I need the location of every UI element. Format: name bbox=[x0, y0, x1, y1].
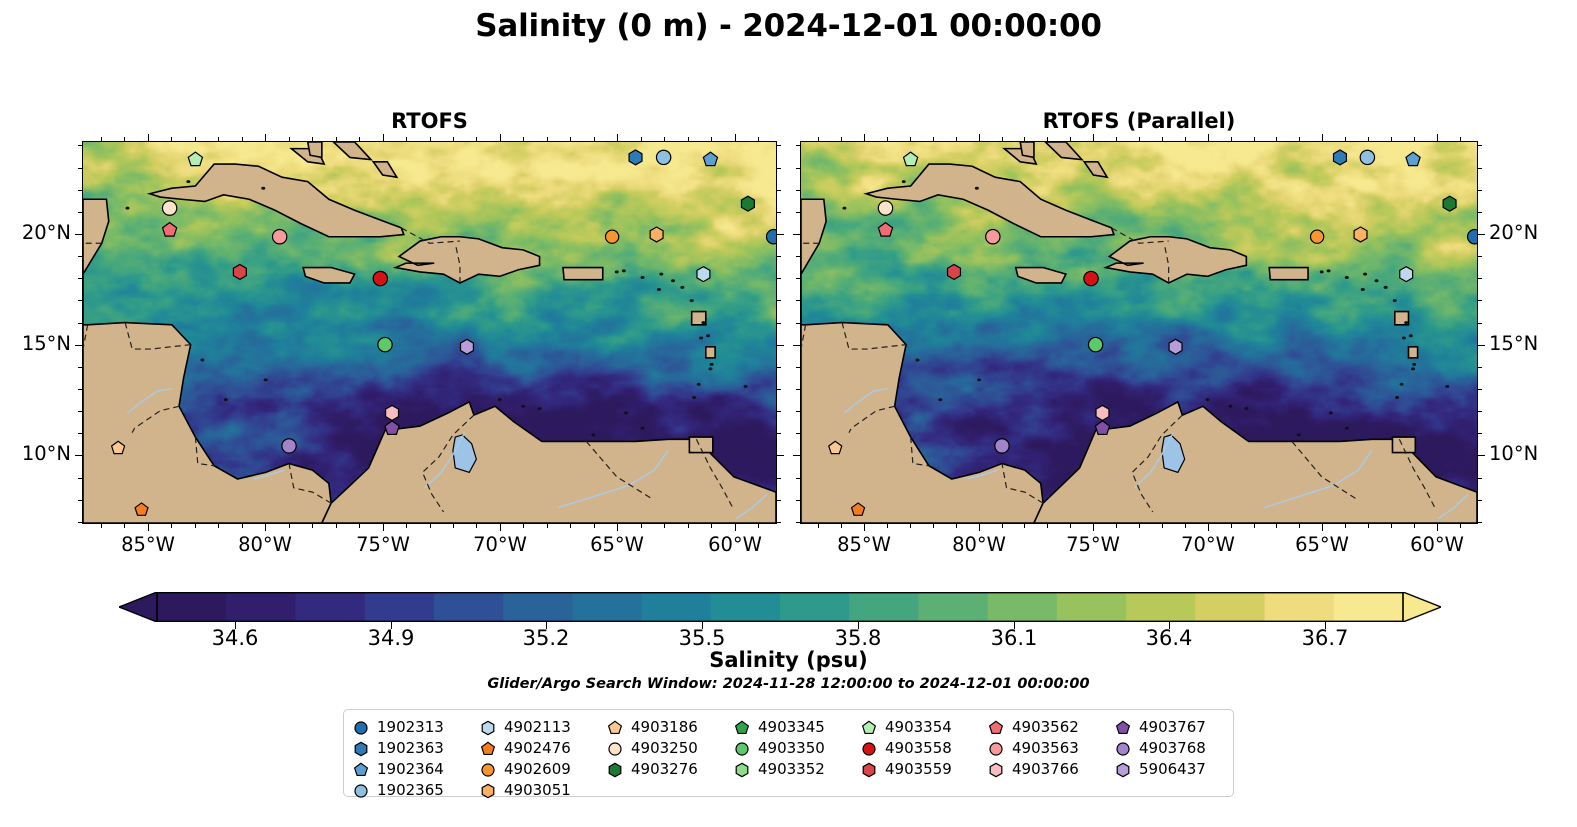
islet bbox=[1445, 385, 1449, 388]
x-minor-tick bbox=[933, 137, 934, 141]
x-minor-tick bbox=[887, 524, 888, 528]
x-minor-tick bbox=[1116, 137, 1117, 141]
y-minor-tick bbox=[1478, 433, 1482, 434]
x-tick bbox=[1093, 134, 1094, 141]
islet bbox=[706, 334, 710, 337]
y-tick-label: 15°N bbox=[1489, 332, 1577, 355]
legend-marker-circle bbox=[352, 782, 370, 800]
legend-label: 4903051 bbox=[504, 783, 571, 798]
x-minor-tick bbox=[406, 524, 407, 528]
x-minor-tick bbox=[453, 524, 454, 528]
colorbar-segment bbox=[295, 592, 365, 622]
x-minor-tick bbox=[1047, 524, 1048, 528]
legend-item-5906437[interactable]: 5906437 bbox=[1114, 759, 1241, 780]
legend-item-4903350[interactable]: 4903350 bbox=[733, 738, 860, 759]
y-minor-tick bbox=[78, 212, 82, 213]
x-minor-tick bbox=[336, 524, 337, 528]
colorbar bbox=[119, 592, 1441, 622]
float-marker-4903276[interactable] bbox=[1443, 196, 1456, 211]
x-tick bbox=[1437, 524, 1438, 531]
float-marker-4903350[interactable] bbox=[378, 337, 392, 351]
y-tick bbox=[777, 455, 784, 456]
legend-item-4903186[interactable]: 4903186 bbox=[606, 717, 733, 738]
y-minor-tick bbox=[796, 433, 800, 434]
islet bbox=[1329, 411, 1333, 414]
colorbar-tick-label: 34.9 bbox=[331, 626, 451, 650]
y-tick bbox=[793, 234, 800, 235]
islet bbox=[1411, 367, 1415, 370]
float-marker-4902113[interactable] bbox=[697, 267, 710, 282]
float-marker-4903559[interactable] bbox=[233, 264, 246, 279]
x-minor-tick bbox=[359, 524, 360, 528]
islet bbox=[659, 273, 663, 276]
y-minor-tick bbox=[796, 212, 800, 213]
x-minor-tick bbox=[688, 524, 689, 528]
y-tick bbox=[793, 455, 800, 456]
landmass-puerto-rico bbox=[563, 268, 603, 280]
y-minor-tick bbox=[777, 278, 781, 279]
legend-item-4903345[interactable]: 4903345 bbox=[733, 717, 860, 738]
float-marker-1902363[interactable] bbox=[629, 150, 642, 165]
map-panel-rtofs[interactable] bbox=[82, 141, 777, 524]
y-minor-tick bbox=[796, 256, 800, 257]
float-marker-5906437[interactable] bbox=[1169, 339, 1182, 354]
y-minor-tick bbox=[78, 389, 82, 390]
x-minor-tick bbox=[910, 137, 911, 141]
panel-title-rtofs: RTOFS bbox=[82, 109, 777, 133]
legend-label: 4903766 bbox=[1012, 762, 1079, 777]
colorbar-extend-min bbox=[119, 592, 157, 622]
islet bbox=[1402, 337, 1406, 340]
islet bbox=[1363, 273, 1367, 276]
y-minor-tick bbox=[78, 411, 82, 412]
x-tick bbox=[1208, 524, 1209, 531]
y-minor-tick bbox=[78, 190, 82, 191]
legend-marker-circle bbox=[987, 740, 1005, 758]
x-minor-tick bbox=[1185, 524, 1186, 528]
legend-marker-circle bbox=[860, 740, 878, 758]
x-minor-tick bbox=[523, 137, 524, 141]
x-tick bbox=[979, 524, 980, 531]
legend-marker-circle bbox=[352, 719, 370, 737]
x-tick bbox=[383, 134, 384, 141]
colorbar-segment bbox=[1195, 592, 1265, 622]
x-tick-label: 75°W bbox=[1048, 533, 1138, 556]
x-minor-tick bbox=[711, 137, 712, 141]
colorbar-tick-label: 36.1 bbox=[954, 626, 1074, 650]
islet bbox=[699, 337, 703, 340]
y-tick bbox=[1478, 345, 1485, 346]
y-minor-tick bbox=[78, 323, 82, 324]
x-tick-label: 75°W bbox=[338, 533, 428, 556]
legend-marker-circle bbox=[606, 740, 624, 758]
x-minor-tick bbox=[1139, 137, 1140, 141]
y-minor-tick bbox=[1478, 300, 1482, 301]
legend-item-1902364[interactable]: 1902364 bbox=[352, 759, 479, 780]
islet bbox=[125, 207, 129, 210]
y-tick bbox=[777, 345, 784, 346]
x-minor-tick bbox=[453, 137, 454, 141]
x-minor-tick bbox=[1345, 137, 1346, 141]
y-minor-tick bbox=[1478, 411, 1482, 412]
search-window-text: Glider/Argo Search Window: 2024-11-28 12… bbox=[0, 676, 1577, 692]
x-tick bbox=[1093, 524, 1094, 531]
islet bbox=[1400, 383, 1404, 386]
float-marker-4903350[interactable] bbox=[1088, 337, 1102, 351]
x-minor-tick bbox=[1254, 524, 1255, 528]
x-tick bbox=[1437, 134, 1438, 141]
colorbar-segment bbox=[1334, 592, 1404, 622]
x-minor-tick bbox=[1024, 137, 1025, 141]
x-minor-tick bbox=[1116, 524, 1117, 528]
colorbar-segment bbox=[157, 592, 227, 622]
colorbar-tick-label: 35.8 bbox=[798, 626, 918, 650]
x-minor-tick bbox=[1460, 524, 1461, 528]
legend-item-4903767[interactable]: 4903767 bbox=[1114, 717, 1241, 738]
float-marker-4903250[interactable] bbox=[878, 201, 892, 215]
islet bbox=[521, 405, 525, 408]
y-minor-tick bbox=[1478, 389, 1482, 390]
legend-marker-hexagon bbox=[987, 761, 1005, 779]
islet bbox=[975, 187, 979, 190]
islet bbox=[186, 180, 190, 183]
legend-item-4902476[interactable]: 4902476 bbox=[479, 738, 606, 759]
colorbar-segment bbox=[1057, 592, 1127, 622]
islet bbox=[1327, 269, 1331, 272]
legend-marker-pentagon bbox=[1114, 719, 1132, 737]
x-minor-tick bbox=[664, 524, 665, 528]
y-tick-label: 10°N bbox=[0, 442, 71, 465]
y-minor-tick bbox=[777, 323, 781, 324]
x-tick-label: 85°W bbox=[103, 533, 193, 556]
x-minor-tick bbox=[1002, 524, 1003, 528]
legend-item-4902113[interactable]: 4902113 bbox=[479, 717, 606, 738]
x-minor-tick bbox=[1414, 137, 1415, 141]
x-minor-tick bbox=[641, 137, 642, 141]
x-tick bbox=[617, 524, 618, 531]
islet bbox=[1345, 276, 1349, 279]
x-minor-tick bbox=[910, 524, 911, 528]
x-tick bbox=[500, 134, 501, 141]
islet bbox=[1244, 407, 1248, 410]
islet bbox=[744, 385, 748, 388]
legend-label: 4903345 bbox=[758, 720, 825, 735]
x-minor-tick bbox=[195, 137, 196, 141]
float-marker-1902365[interactable] bbox=[656, 150, 670, 164]
landmass-andros bbox=[308, 142, 322, 157]
islet bbox=[671, 279, 675, 282]
legend-label: 4903562 bbox=[1012, 720, 1079, 735]
x-minor-tick bbox=[570, 137, 571, 141]
y-minor-tick bbox=[796, 145, 800, 146]
x-minor-tick bbox=[818, 524, 819, 528]
y-minor-tick bbox=[796, 478, 800, 479]
legend-label: 4903186 bbox=[631, 720, 698, 735]
legend-item-4903276[interactable]: 4903276 bbox=[606, 759, 733, 780]
y-minor-tick bbox=[777, 190, 781, 191]
x-minor-tick bbox=[406, 137, 407, 141]
x-minor-tick bbox=[430, 137, 431, 141]
float-marker-4902609[interactable] bbox=[1311, 230, 1324, 243]
islet bbox=[641, 276, 645, 279]
landmass-martinique bbox=[706, 347, 715, 358]
islet bbox=[902, 180, 906, 183]
y-minor-tick bbox=[1478, 168, 1482, 169]
x-minor-tick bbox=[124, 137, 125, 141]
colorbar-segment bbox=[226, 592, 296, 622]
colorbar-tick-label: 35.5 bbox=[642, 626, 762, 650]
x-minor-tick bbox=[547, 524, 548, 528]
x-tick bbox=[1322, 524, 1323, 531]
x-minor-tick bbox=[171, 137, 172, 141]
legend-marker-circle bbox=[479, 761, 497, 779]
legend-label: 4903250 bbox=[631, 741, 698, 756]
islet bbox=[538, 407, 542, 410]
y-minor-tick bbox=[796, 190, 800, 191]
y-minor-tick bbox=[78, 433, 82, 434]
islet bbox=[624, 411, 628, 414]
x-minor-tick bbox=[1070, 524, 1071, 528]
x-minor-tick bbox=[1231, 524, 1232, 528]
x-minor-tick bbox=[1254, 137, 1255, 141]
islet bbox=[692, 396, 696, 399]
islet bbox=[1361, 288, 1365, 291]
legend-item-4903352[interactable]: 4903352 bbox=[733, 759, 860, 780]
legend-marker-hexagon bbox=[860, 761, 878, 779]
x-minor-tick bbox=[1299, 524, 1300, 528]
legend-item-4903354[interactable]: 4903354 bbox=[860, 717, 987, 738]
x-minor-tick bbox=[359, 137, 360, 141]
y-minor-tick bbox=[777, 478, 781, 479]
x-tick-label: 85°W bbox=[819, 533, 909, 556]
islet bbox=[1206, 398, 1210, 401]
legend-marker-pentagon bbox=[352, 761, 370, 779]
y-minor-tick bbox=[1478, 256, 1482, 257]
legend-item-4903051[interactable]: 4903051 bbox=[479, 780, 606, 801]
x-tick-label: 80°W bbox=[934, 533, 1024, 556]
y-minor-tick bbox=[777, 500, 781, 501]
colorbar-extend-max bbox=[1403, 592, 1441, 622]
x-minor-tick bbox=[242, 137, 243, 141]
legend-marker-circle bbox=[733, 740, 751, 758]
x-minor-tick bbox=[956, 524, 957, 528]
y-minor-tick bbox=[1478, 190, 1482, 191]
x-tick bbox=[735, 524, 736, 531]
x-minor-tick bbox=[124, 524, 125, 528]
colorbar-segment bbox=[365, 592, 435, 622]
float-marker-1902363[interactable] bbox=[1334, 150, 1347, 165]
x-minor-tick bbox=[887, 137, 888, 141]
x-minor-tick bbox=[758, 524, 759, 528]
float-marker-5906437[interactable] bbox=[461, 339, 474, 354]
x-minor-tick bbox=[1414, 524, 1415, 528]
y-minor-tick bbox=[777, 168, 781, 169]
legend-label: 4903354 bbox=[885, 720, 952, 735]
legend-marker-hexagon bbox=[479, 719, 497, 737]
float-marker-4903276[interactable] bbox=[741, 196, 754, 211]
x-minor-tick bbox=[1002, 137, 1003, 141]
float-marker-4903558[interactable] bbox=[1084, 271, 1098, 285]
y-minor-tick bbox=[796, 389, 800, 390]
x-tick bbox=[735, 134, 736, 141]
islet bbox=[697, 383, 701, 386]
colorbar-segment bbox=[572, 592, 642, 622]
legend-marker-circle bbox=[1114, 740, 1132, 758]
legend-item-4902609[interactable]: 4902609 bbox=[479, 759, 606, 780]
legend-marker-pentagon bbox=[479, 740, 497, 758]
float-marker-4903051[interactable] bbox=[1354, 227, 1367, 242]
legend-marker-pentagon bbox=[606, 719, 624, 737]
float-marker-4903051[interactable] bbox=[650, 227, 663, 242]
x-minor-tick bbox=[956, 137, 957, 141]
x-tick-label: 65°W bbox=[572, 533, 662, 556]
islet bbox=[680, 286, 684, 289]
x-minor-tick bbox=[594, 137, 595, 141]
y-minor-tick bbox=[796, 367, 800, 368]
x-minor-tick bbox=[312, 524, 313, 528]
y-tick-label: 20°N bbox=[1489, 221, 1577, 244]
y-minor-tick bbox=[78, 478, 82, 479]
x-tick-label: 60°W bbox=[690, 533, 780, 556]
legend-item-4903768[interactable]: 4903768 bbox=[1114, 738, 1241, 759]
legend-item-4903562[interactable]: 4903562 bbox=[987, 717, 1114, 738]
y-minor-tick bbox=[1478, 278, 1482, 279]
y-minor-tick bbox=[78, 145, 82, 146]
x-minor-tick bbox=[818, 137, 819, 141]
y-minor-tick bbox=[777, 411, 781, 412]
x-tick bbox=[864, 524, 865, 531]
legend-label: 4902476 bbox=[504, 741, 571, 756]
x-minor-tick bbox=[1276, 524, 1277, 528]
float-marker-4903250[interactable] bbox=[162, 201, 176, 215]
x-minor-tick bbox=[1231, 137, 1232, 141]
legend-label: 4903352 bbox=[758, 762, 825, 777]
y-tick bbox=[777, 234, 784, 235]
legend-item-1902363[interactable]: 1902363 bbox=[352, 738, 479, 759]
float-marker-4903558[interactable] bbox=[373, 271, 387, 285]
x-tick-label: 70°W bbox=[1163, 533, 1253, 556]
legend-item-4903766[interactable]: 4903766 bbox=[987, 759, 1114, 780]
x-minor-tick bbox=[476, 137, 477, 141]
colorbar-segment bbox=[434, 592, 504, 622]
colorbar-label: Salinity (psu) bbox=[0, 648, 1577, 672]
x-tick-label: 80°W bbox=[220, 533, 310, 556]
y-minor-tick bbox=[796, 500, 800, 501]
y-tick bbox=[1478, 234, 1485, 235]
legend-item-4903559[interactable]: 4903559 bbox=[860, 759, 987, 780]
x-minor-tick bbox=[1185, 137, 1186, 141]
x-minor-tick bbox=[1299, 137, 1300, 141]
y-tick-label: 10°N bbox=[1489, 442, 1577, 465]
float-marker-1902313[interactable] bbox=[766, 230, 776, 244]
legend-label: 4903563 bbox=[1012, 741, 1079, 756]
colorbar-segment bbox=[1265, 592, 1335, 622]
x-minor-tick bbox=[1276, 137, 1277, 141]
landmass-martinique bbox=[1408, 347, 1417, 358]
colorbar-segment bbox=[503, 592, 573, 622]
y-minor-tick bbox=[1478, 367, 1482, 368]
x-minor-tick bbox=[1391, 137, 1392, 141]
islet bbox=[1393, 299, 1397, 302]
float-marker-4903563[interactable] bbox=[986, 230, 1000, 244]
x-minor-tick bbox=[688, 137, 689, 141]
islet bbox=[498, 398, 502, 401]
map-panel-rtofs-parallel[interactable] bbox=[800, 141, 1478, 524]
landmass-trinidad bbox=[1392, 437, 1415, 452]
float-marker-1902365[interactable] bbox=[1360, 150, 1374, 164]
float-marker-4903768[interactable] bbox=[995, 439, 1009, 453]
float-marker-4902609[interactable] bbox=[606, 230, 619, 243]
islet bbox=[1297, 433, 1301, 436]
float-marker-4903559[interactable] bbox=[948, 264, 961, 279]
x-tick bbox=[265, 134, 266, 141]
islet bbox=[200, 359, 204, 362]
x-minor-tick bbox=[1139, 524, 1140, 528]
legend-item-1902313[interactable]: 1902313 bbox=[352, 717, 479, 738]
x-minor-tick bbox=[218, 137, 219, 141]
x-minor-tick bbox=[1368, 524, 1369, 528]
x-minor-tick bbox=[1368, 137, 1369, 141]
islet bbox=[1409, 334, 1413, 337]
legend-label: 4902609 bbox=[504, 762, 571, 777]
x-minor-tick bbox=[641, 524, 642, 528]
x-tick-label: 65°W bbox=[1277, 533, 1367, 556]
x-minor-tick bbox=[1070, 137, 1071, 141]
islet bbox=[1384, 286, 1388, 289]
float-marker-4903768[interactable] bbox=[282, 439, 296, 453]
islet bbox=[710, 363, 714, 366]
colorbar-segment bbox=[988, 592, 1058, 622]
x-tick-label: 70°W bbox=[455, 533, 545, 556]
x-minor-tick bbox=[430, 524, 431, 528]
legend-item-4903563[interactable]: 4903563 bbox=[987, 738, 1114, 759]
islet bbox=[690, 299, 694, 302]
float-marker-1902313[interactable] bbox=[1468, 230, 1477, 244]
legend-label: 1902313 bbox=[377, 720, 444, 735]
legend-box: 1902313190236319023641902365490211349024… bbox=[343, 709, 1234, 797]
legend-label: 4903350 bbox=[758, 741, 825, 756]
x-minor-tick bbox=[1391, 524, 1392, 528]
x-minor-tick bbox=[933, 524, 934, 528]
islet bbox=[591, 433, 595, 436]
x-minor-tick bbox=[476, 524, 477, 528]
legend-item-4903250[interactable]: 4903250 bbox=[606, 738, 733, 759]
x-tick bbox=[1208, 134, 1209, 141]
legend-label: 5906437 bbox=[1139, 762, 1206, 777]
y-minor-tick bbox=[796, 522, 800, 523]
float-marker-4903766[interactable] bbox=[386, 405, 399, 420]
x-tick bbox=[617, 134, 618, 141]
y-minor-tick bbox=[1478, 145, 1482, 146]
y-tick bbox=[75, 455, 82, 456]
legend-item-1902365[interactable]: 1902365 bbox=[352, 780, 479, 801]
y-minor-tick bbox=[777, 522, 781, 523]
float-marker-4903766[interactable] bbox=[1096, 405, 1109, 420]
y-minor-tick bbox=[777, 433, 781, 434]
colorbar-tick-label: 34.6 bbox=[175, 626, 295, 650]
float-marker-4903563[interactable] bbox=[273, 230, 287, 244]
y-minor-tick bbox=[796, 278, 800, 279]
x-tick bbox=[500, 524, 501, 531]
landmass-andros bbox=[1020, 142, 1034, 157]
legend-marker-hexagon bbox=[1114, 761, 1132, 779]
islet bbox=[1412, 363, 1416, 366]
y-minor-tick bbox=[1478, 478, 1482, 479]
legend-item-4903558[interactable]: 4903558 bbox=[860, 738, 987, 759]
legend-marker-hexagon bbox=[606, 761, 624, 779]
islet bbox=[701, 321, 705, 324]
float-marker-4902113[interactable] bbox=[1400, 267, 1413, 282]
